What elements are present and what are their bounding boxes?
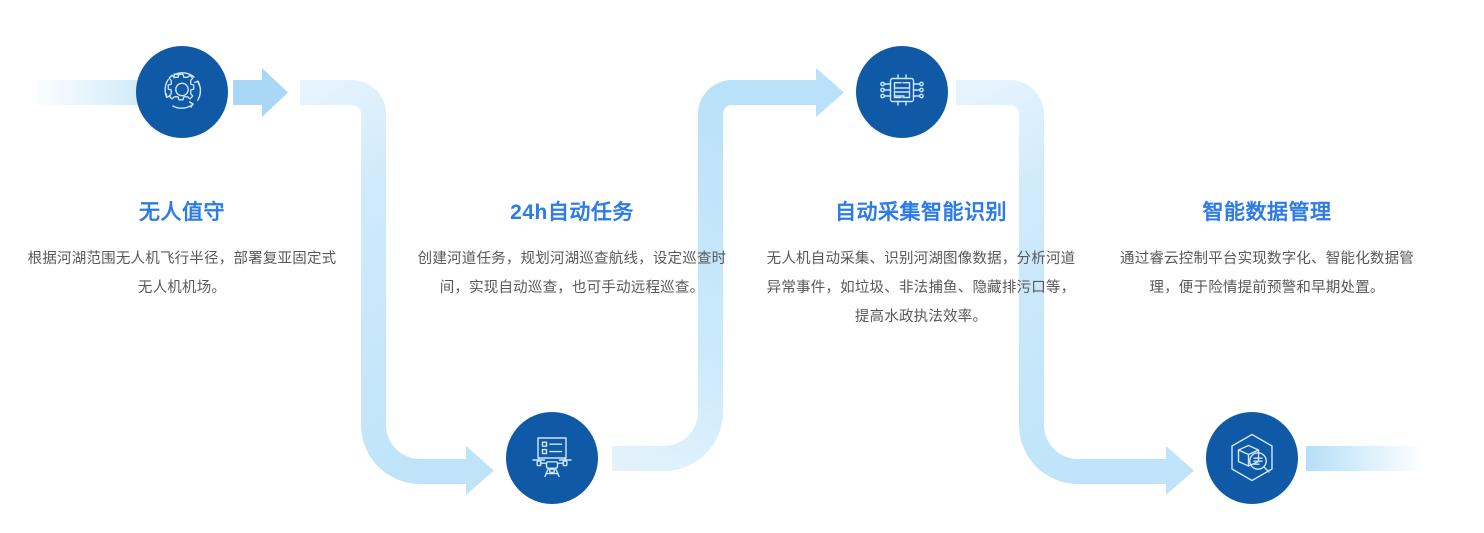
step-text-4: 智能数据管理 通过睿云控制平台实现数字化、智能化数据管理，便于险情提前预警和早期… bbox=[1112, 200, 1422, 303]
ai-chip-recognition-icon bbox=[873, 63, 931, 121]
ribbon-tail-right bbox=[1306, 446, 1424, 471]
process-flow-diagram: 无人值守 根据河湖范围无人机飞行半径，部署复亚固定式无人机机场。 24h自动任务… bbox=[0, 0, 1484, 533]
step-body-4: 通过睿云控制平台实现数字化、智能化数据管理，便于险情提前预警和早期处置。 bbox=[1112, 245, 1422, 303]
step-node-1[interactable] bbox=[136, 46, 228, 138]
step-title-2: 24h自动任务 bbox=[417, 200, 727, 225]
step-body-2: 创建河道任务，规划河湖巡查航线，设定巡查时间，实现自动巡查，也可手动远程巡查。 bbox=[417, 245, 727, 303]
step-body-3: 无人机自动采集、识别河湖图像数据，分析河道异常事件，如垃圾、非法捕鱼、隐藏排污口… bbox=[766, 245, 1076, 332]
drone-task-list-icon bbox=[523, 429, 581, 487]
gear-rotation-icon bbox=[153, 63, 211, 121]
step-text-2: 24h自动任务 创建河道任务，规划河湖巡查航线，设定巡查时间，实现自动巡查，也可… bbox=[417, 200, 727, 303]
step-node-4[interactable] bbox=[1206, 412, 1298, 504]
step-text-1: 无人值守 根据河湖范围无人机飞行半径，部署复亚固定式无人机机场。 bbox=[27, 200, 337, 303]
step-title-1: 无人值守 bbox=[27, 200, 337, 225]
step-node-3[interactable] bbox=[856, 46, 948, 138]
step-text-3: 自动采集智能识别 无人机自动采集、识别河湖图像数据，分析河道异常事件，如垃圾、非… bbox=[766, 200, 1076, 332]
step-node-2[interactable] bbox=[506, 412, 598, 504]
step-body-1: 根据河湖范围无人机飞行半径，部署复亚固定式无人机机场。 bbox=[27, 245, 337, 303]
arrow-step1-out bbox=[233, 68, 288, 117]
data-cube-search-icon bbox=[1223, 429, 1281, 487]
step-title-3: 自动采集智能识别 bbox=[766, 200, 1076, 225]
step-title-4: 智能数据管理 bbox=[1112, 200, 1422, 225]
